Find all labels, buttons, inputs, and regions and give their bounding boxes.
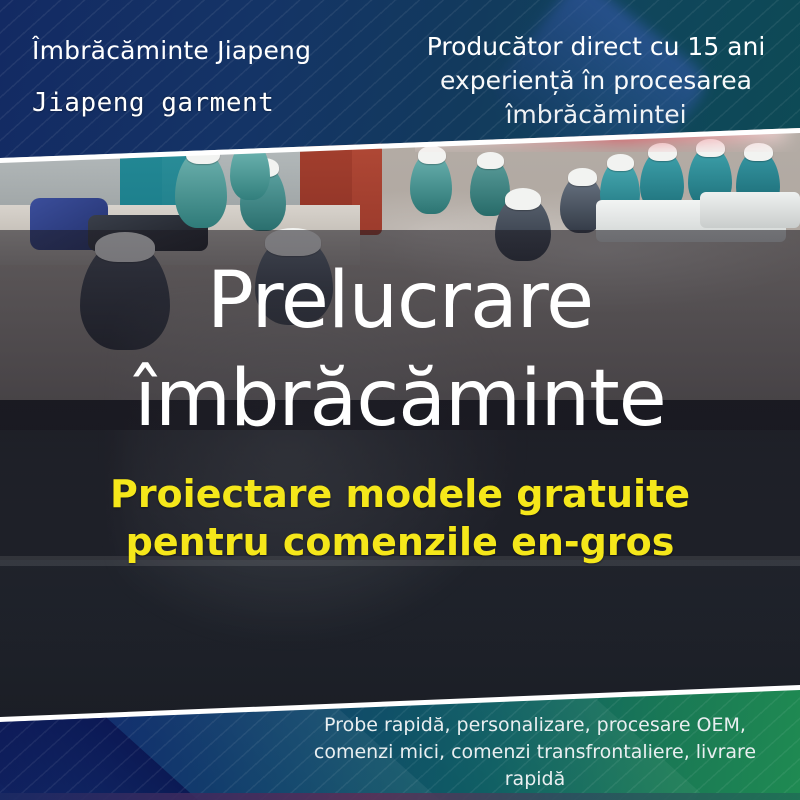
tagline-line-1: Producător direct cu 15 ani — [400, 30, 792, 64]
subheadline-line-2: pentru comenzile en-gros — [0, 518, 800, 566]
promo-banner-image: Îmbrăcăminte Jiapeng Jiapeng garment Pro… — [0, 0, 800, 800]
worker-cap — [477, 152, 504, 169]
brand-name-en: Jiapeng garment — [32, 88, 274, 118]
worker-cap — [607, 154, 634, 171]
tagline-block: Producător direct cu 15 ani experiență î… — [400, 30, 792, 132]
bottom-accent-strip — [0, 793, 800, 800]
features-line-1: Probe rapidă, personalizare, procesare O… — [300, 712, 770, 739]
tagline-line-3: îmbrăcămintei — [400, 98, 792, 132]
brand-name-ro: Îmbrăcăminte Jiapeng — [32, 36, 311, 65]
features-block: Probe rapidă, personalizare, procesare O… — [300, 712, 770, 793]
subheadline-block: Proiectare modele gratuite pentru comenz… — [0, 470, 800, 566]
headline-line-1: Prelucrare — [0, 252, 800, 350]
white-garment-stack — [700, 192, 800, 228]
worker-cap — [568, 168, 597, 186]
tagline-line-2: experiență în procesarea — [400, 64, 792, 98]
headline-block: Prelucrare îmbrăcăminte — [0, 252, 800, 448]
headline-line-2: îmbrăcăminte — [0, 350, 800, 448]
features-line-3: rapidă — [300, 766, 770, 793]
features-line-2: comenzi mici, comenzi transfrontaliere, … — [300, 739, 770, 766]
subheadline-line-1: Proiectare modele gratuite — [0, 470, 800, 518]
worker-cap — [505, 188, 541, 210]
